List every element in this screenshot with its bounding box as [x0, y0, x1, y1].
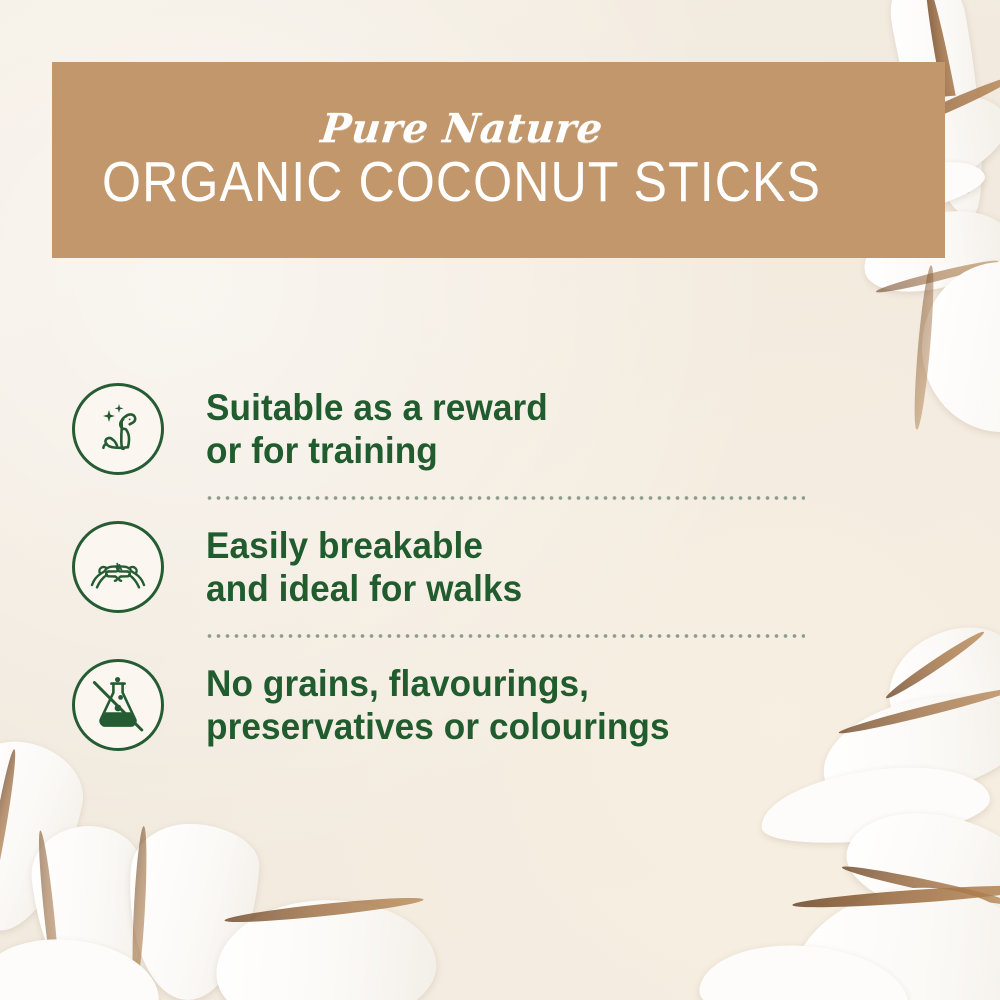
feature-text-reward: Suitable as a reward or for training [206, 386, 548, 473]
feature-text-no-additives: No grains, flavourings, preservatives or… [206, 662, 670, 749]
feature-row-no-additives: No grains, flavourings, preservatives or… [0, 646, 1000, 764]
header-banner-text-group: Pure Nature ORGANIC COCONUT STICKS [52, 62, 872, 258]
no-chemicals-flask-icon [72, 659, 164, 751]
feature-row-breakable: Easily breakable and ideal for walks [0, 508, 1000, 626]
feature-row-reward: Suitable as a reward or for training [0, 370, 1000, 488]
feature-divider-2 [205, 626, 805, 646]
header-banner: Pure Nature ORGANIC COCONUT STICKS [52, 62, 945, 258]
hands-breaking-stick-icon [72, 521, 164, 613]
product-feature-page: Pure Nature ORGANIC COCONUT STICKS [0, 0, 1000, 1000]
feature-divider-1 [205, 488, 805, 508]
page-title: ORGANIC COCONUT STICKS [102, 153, 821, 211]
feature-text-breakable: Easily breakable and ideal for walks [206, 524, 522, 611]
feature-list: Suitable as a reward or for training [0, 370, 1000, 764]
dog-with-sparkles-icon [72, 383, 164, 475]
banner-eyebrow: Pure Nature [319, 109, 605, 149]
